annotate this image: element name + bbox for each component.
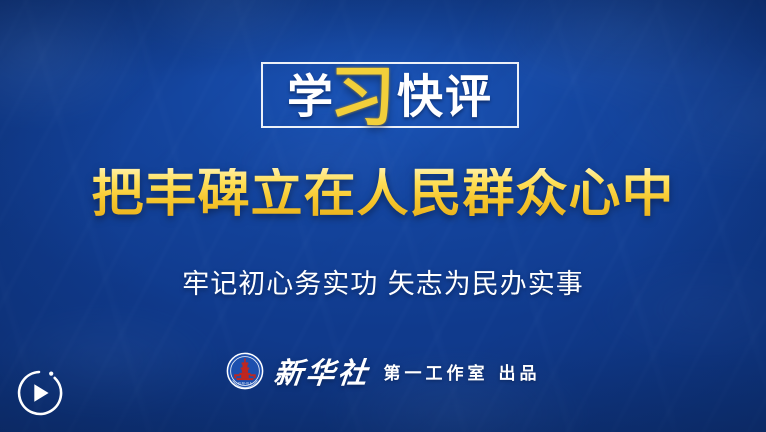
play-button[interactable]: 播放 xyxy=(10,364,68,422)
badge-char-1: 学 xyxy=(287,70,335,124)
video-poster-frame: 学习快评 把丰碑立在人民群众心中 牢记初心务实功 矢志为民办实事 xyxy=(0,0,766,432)
svg-text:XINHUA: XINHUA xyxy=(237,382,252,386)
studio-credit: 第一工作室 出品 xyxy=(384,359,541,384)
xinhua-emblem-icon: XINHUA xyxy=(226,352,264,390)
badge-char-3: 快 xyxy=(397,70,445,124)
badge-char-4: 评 xyxy=(445,70,493,124)
headline-title: 把丰碑立在人民群众心中 xyxy=(0,168,766,220)
agency-name: 新华社 xyxy=(271,350,375,392)
credit-row: XINHUA 新华社 第一工作室 出品 xyxy=(0,350,766,392)
badge-char-2-gold: 习 xyxy=(330,45,398,139)
program-badge-text: 学习快评 xyxy=(261,61,519,127)
program-badge: 学习快评 xyxy=(261,62,519,128)
subtitle-text: 牢记初心务实功 矢志为民办实事 xyxy=(0,262,766,301)
